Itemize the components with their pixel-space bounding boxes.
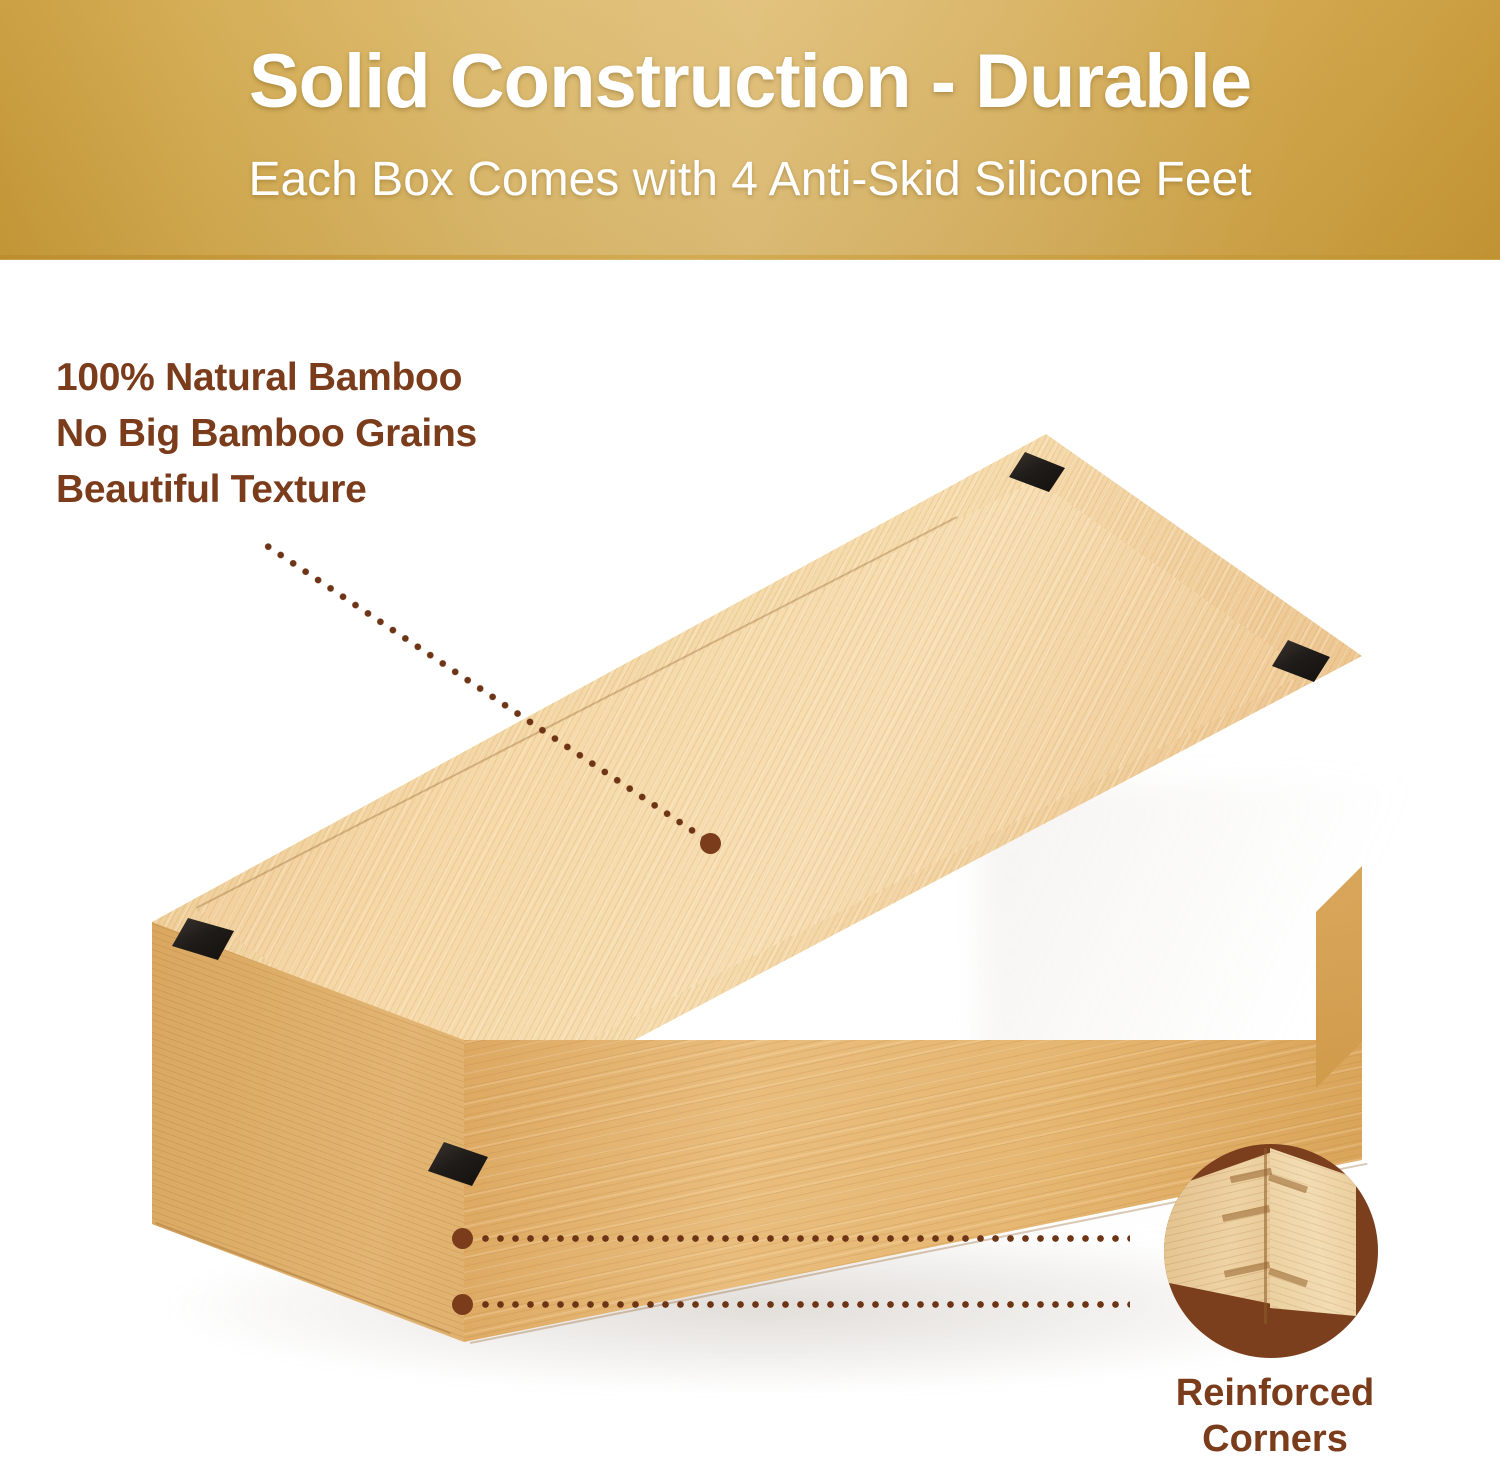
reinforced-corners-line-2: Corners bbox=[1120, 1416, 1430, 1462]
leader-line-corner-upper bbox=[478, 1235, 1130, 1242]
leader-origin-corner-lower bbox=[452, 1294, 473, 1315]
banner-bottom-edge bbox=[0, 255, 1500, 260]
banner-title: Solid Construction - Durable bbox=[0, 38, 1500, 125]
reinforced-corner-inset bbox=[1164, 1144, 1378, 1358]
material-callout-line-2: No Big Bamboo Grains bbox=[56, 406, 477, 462]
reinforced-corners-line-1: Reinforced bbox=[1120, 1370, 1430, 1416]
banner-subtitle: Each Box Comes with 4 Anti-Skid Silicone… bbox=[0, 152, 1500, 207]
material-callout-line-1: 100% Natural Bamboo bbox=[56, 350, 477, 406]
leader-line-corner-lower bbox=[478, 1301, 1130, 1308]
material-callout: 100% Natural Bamboo No Big Bamboo Grains… bbox=[56, 350, 477, 518]
header-banner: Solid Construction - Durable Each Box Co… bbox=[0, 0, 1500, 259]
leader-origin-corner-upper bbox=[452, 1228, 473, 1249]
material-callout-line-3: Beautiful Texture bbox=[56, 462, 477, 518]
reinforced-corners-caption: Reinforced Corners bbox=[1120, 1370, 1430, 1462]
product-infographic: Solid Construction - Durable Each Box Co… bbox=[0, 0, 1500, 1463]
leader-endpoint-material bbox=[700, 833, 721, 854]
